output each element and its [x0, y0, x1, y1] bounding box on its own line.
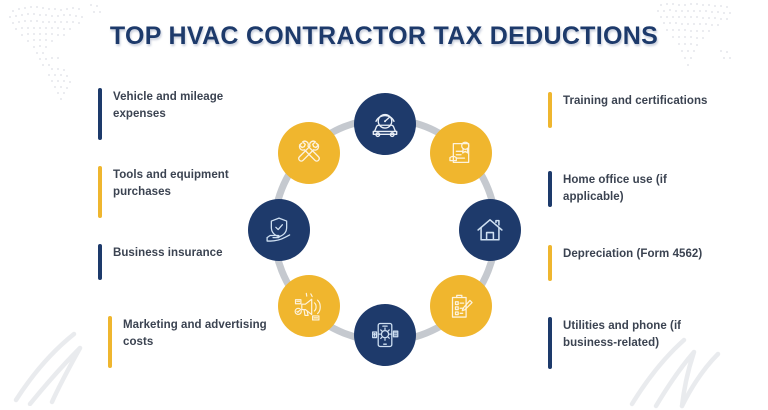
label-text: Tools and equipment purchases: [113, 166, 268, 218]
label-accent-bar: [548, 171, 552, 207]
label-text: Vehicle and mileage expenses: [113, 88, 268, 140]
megaphone-marketing-icon: [291, 288, 327, 324]
label-accent-bar: [548, 317, 552, 369]
circular-icon-diagram: [248, 82, 523, 378]
label-accent-bar: [548, 92, 552, 128]
label-item-depreciation: Depreciation (Form 4562): [548, 245, 702, 281]
label-accent-bar: [108, 316, 112, 368]
label-text: Home office use (if applicable): [563, 171, 718, 207]
node-depreciation[interactable]: [430, 275, 492, 337]
node-utilities-phone[interactable]: [354, 304, 416, 366]
node-training-certifications[interactable]: [430, 122, 492, 184]
label-text: Training and certifications: [563, 92, 708, 128]
label-accent-bar: [98, 166, 102, 218]
label-accent-bar: [98, 244, 102, 280]
house-icon: [473, 213, 507, 247]
label-item-utilities-phone: Utilities and phone (if business-related…: [548, 317, 718, 369]
label-item-home-office: Home office use (if applicable): [548, 171, 718, 207]
node-marketing-advertising[interactable]: [278, 275, 340, 337]
label-item-tools-equipment: Tools and equipment purchases: [98, 166, 268, 218]
node-vehicle-mileage[interactable]: [354, 93, 416, 155]
label-text: Marketing and advertising costs: [123, 316, 268, 368]
hand-shield-check-icon: [262, 213, 296, 247]
label-accent-bar: [548, 245, 552, 281]
label-item-vehicle-mileage: Vehicle and mileage expenses: [98, 88, 268, 140]
label-item-training-certifications: Training and certifications: [548, 92, 708, 128]
watermark-swoosh-icon: [8, 326, 113, 406]
wrench-screwdriver-icon: [292, 136, 326, 170]
label-text: Business insurance: [113, 244, 223, 280]
label-accent-bar: [98, 88, 102, 140]
clipboard-checklist-pencil-icon: [444, 289, 478, 323]
car-speedometer-icon: [367, 106, 403, 142]
node-tools-equipment[interactable]: [278, 122, 340, 184]
certificate-award-icon: [444, 136, 478, 170]
node-business-insurance[interactable]: [248, 199, 310, 261]
label-item-marketing-advertising: Marketing and advertising costs: [108, 316, 268, 368]
label-text: Utilities and phone (if business-related…: [563, 317, 718, 369]
label-item-business-insurance: Business insurance: [98, 244, 223, 280]
label-text: Depreciation (Form 4562): [563, 245, 702, 281]
smartphone-utilities-icon: [368, 318, 402, 352]
page-title: TOP HVAC CONTRACTOR TAX DEDUCTIONS: [0, 22, 768, 51]
node-home-office[interactable]: [459, 199, 521, 261]
